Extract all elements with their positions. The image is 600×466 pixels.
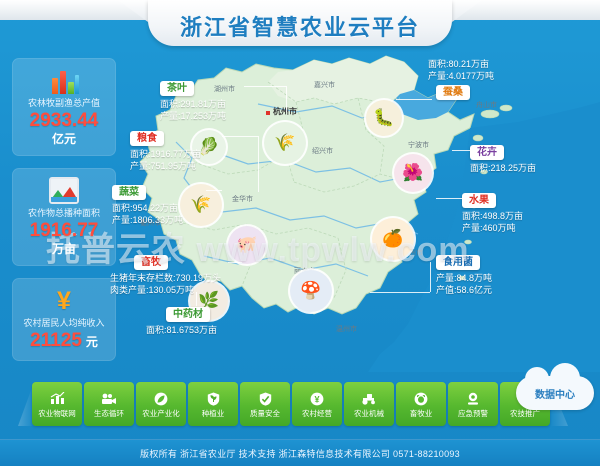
stat-value-rural-income: 21125 — [30, 330, 82, 352]
landscape-icon — [16, 176, 112, 204]
stat-card-rural-income[interactable]: ¥ 农村居民人均纯收入 21125 元 — [12, 278, 116, 361]
leader-mushroom — [370, 292, 430, 293]
tractor-icon — [361, 390, 377, 407]
callout-grain[interactable]: 粮食 面积:1916.77万亩 产量:751.95万吨 — [130, 128, 201, 172]
title-plate: 浙江省智慧农业云平台 — [148, 0, 452, 46]
stat-label-sown-area: 农作物总播种面积 — [16, 207, 112, 220]
nav-label-tech-extension: 农技推广 — [510, 409, 540, 418]
callout-fruit-line2: 产量:460万吨 — [462, 222, 523, 234]
city-label-shaoxing: 绍兴市 — [312, 146, 333, 156]
callout-tea-line2: 产量:17.253万吨 — [160, 110, 226, 122]
nav-label-machinery: 农业机械 — [354, 409, 384, 418]
capital-dot — [266, 111, 270, 115]
nav-item-machinery[interactable]: 农业机械 — [344, 382, 394, 426]
bar-chart-icon — [16, 66, 112, 94]
callout-silkworm-tag: 蚕桑 — [436, 85, 470, 100]
stat-unit-sown-area: 万亩 — [16, 242, 112, 257]
nav-item-rural-management[interactable]: ¥ 农村经营 — [292, 382, 342, 426]
page-title: 浙江省智慧农业云平台 — [180, 10, 420, 42]
nav-label-iot: 农业物联网 — [38, 409, 76, 418]
leader-herb-v — [196, 292, 197, 306]
stat-card-sown-area[interactable]: 农作物总播种面积 1916.77 万亩 — [12, 168, 116, 266]
callout-mushroom-tag: 食用菌 — [436, 255, 480, 270]
stat-label-rural-income: 农村居民人均纯收入 — [16, 317, 112, 330]
bubble-mushroom[interactable]: 🍄 — [290, 270, 332, 312]
footer-copyright: 版权所有 浙江省农业厅 技术支持 浙江森特信息技术有限公司 0571-88210… — [140, 447, 460, 460]
nav-label-eco-cycle: 生态循环 — [94, 409, 124, 418]
data-center-cloud-button[interactable]: 数据中心 — [516, 376, 594, 410]
bubble-fruit[interactable]: 🍊 — [372, 218, 414, 260]
callout-grain-tag: 粮食 — [130, 131, 164, 146]
leaf-icon — [154, 390, 168, 407]
nav-item-animal-husbandry[interactable]: 畜牧业 — [396, 382, 446, 426]
leader-grain-v — [258, 136, 259, 192]
yuan-icon: ¥ — [16, 286, 112, 314]
callout-flower-tag: 花卉 — [470, 145, 504, 160]
nav-item-industrialization[interactable]: 农业产业化 — [136, 382, 186, 426]
svg-text:¥: ¥ — [314, 394, 319, 404]
callout-livestock[interactable]: 畜牧 生猪年末存栏数:730.19万头 肉类产量:130.05万吨 — [110, 252, 221, 296]
cow-icon — [414, 390, 428, 407]
bottom-nav: 农业物联网 生态循环 农业产业化 种植业 质量安全 — [32, 382, 552, 426]
nav-item-eco-cycle[interactable]: 生态循环 — [84, 382, 134, 426]
nav-label-rural-management: 农村经营 — [302, 409, 332, 418]
callout-mushroom-line2: 产值:58.6亿元 — [436, 284, 492, 296]
callout-silkworm-line2: 产量:4.0177万吨 — [428, 70, 494, 82]
leader-flower — [452, 150, 470, 151]
nav-label-quality-safety: 质量安全 — [250, 409, 280, 418]
bubble-silkworm[interactable]: 🐛 — [366, 100, 402, 136]
chart-icon — [50, 390, 65, 407]
callout-mushroom-line1: 产量:84.8万吨 — [436, 272, 492, 284]
callout-tea-tag: 茶叶 — [160, 81, 194, 96]
check-shield-icon — [259, 390, 272, 407]
yuan-shield-icon: ¥ — [310, 390, 324, 407]
callout-fruit-line1: 面积:498.8万亩 — [462, 210, 523, 222]
callout-grain-line1: 面积:1916.77万亩 — [130, 148, 201, 160]
app-root: 浙江省智慧农业云平台 — [0, 0, 600, 466]
nav-label-emergency-alert: 应急预警 — [458, 409, 488, 418]
nav-item-iot[interactable]: 农业物联网 — [32, 382, 82, 426]
callout-silkworm-line1: 面积:80.21万亩 — [428, 58, 494, 70]
callout-vegetable-line1: 面积:954.22万亩 — [112, 202, 183, 214]
city-label-ningbo: 宁波市 — [408, 140, 429, 150]
callout-flower[interactable]: 花卉 面积:218.25万亩 — [470, 142, 536, 174]
city-label-wenzhou: 温州市 — [336, 324, 357, 334]
callout-vegetable-line2: 产量:1806.33万吨 — [112, 214, 183, 226]
stat-unit-rural-income: 元 — [86, 335, 98, 350]
leader-fruit — [436, 198, 462, 199]
city-label-jiaxing: 嘉兴市 — [314, 80, 335, 90]
leader-vegetable — [206, 190, 222, 191]
callout-tea-line1: 面积:291.81万亩 — [160, 98, 226, 110]
map-north-plain — [268, 56, 418, 104]
stat-value-sown-area: 1916.77 — [16, 220, 112, 242]
leader-livestock — [228, 262, 242, 263]
stat-unit-total-output: 亿元 — [16, 132, 112, 147]
callout-livestock-tag: 畜牧 — [134, 255, 168, 270]
callout-livestock-line2: 肉类产量:130.05万吨 — [110, 284, 221, 296]
leader-silkworm — [396, 99, 432, 100]
stat-card-total-output[interactable]: 农林牧副渔总产值 2933.44 亿元 — [12, 58, 116, 156]
callout-silkworm[interactable]: 面积:80.21万亩 产量:4.0177万吨 蚕桑 — [428, 58, 494, 100]
bubble-flower[interactable]: 🌺 — [394, 154, 432, 192]
callout-herb-tag: 中药材 — [166, 307, 210, 322]
stats-panel: 农林牧副渔总产值 2933.44 亿元 农作物总播种面积 1916.77 万亩 … — [12, 58, 108, 373]
stat-label-total-output: 农林牧副渔总产值 — [16, 97, 112, 110]
callout-fruit[interactable]: 水果 面积:498.8万亩 产量:460万吨 — [462, 190, 523, 234]
footer-bar: 版权所有 浙江省农业厅 技术支持 浙江森特信息技术有限公司 0571-88210… — [0, 439, 600, 466]
bubble-tea[interactable]: 🌾 — [264, 122, 306, 164]
bubble-livestock[interactable]: 🐖 — [228, 226, 266, 264]
callout-herb[interactable]: 中药材 面积:81.6753万亩 — [146, 304, 217, 336]
city-label-hangzhou: 杭州市 — [273, 106, 297, 117]
leader-tea-v — [286, 86, 287, 112]
nav-label-animal-husbandry: 畜牧业 — [410, 409, 433, 418]
leader-mushroom-v — [430, 262, 431, 292]
alarm-icon — [466, 390, 480, 407]
stat-value-total-output: 2933.44 — [16, 110, 112, 132]
callout-fruit-tag: 水果 — [462, 193, 496, 208]
leader-grain — [222, 136, 258, 137]
callout-grain-line2: 产量:751.95万吨 — [130, 160, 201, 172]
city-label-zhoushan: 舟山市 — [476, 100, 497, 110]
leader-tea — [244, 86, 286, 87]
callout-flower-line1: 面积:218.25万亩 — [470, 162, 536, 174]
callout-herb-line1: 面积:81.6753万亩 — [146, 324, 217, 336]
callout-livestock-line1: 生猪年末存栏数:730.19万头 — [110, 272, 221, 284]
nav-label-planting: 种植业 — [202, 409, 225, 418]
sprout-shield-icon — [207, 390, 220, 407]
data-center-label: 数据中心 — [535, 386, 575, 401]
callout-vegetable[interactable]: 蔬菜 面积:954.22万亩 产量:1806.33万吨 — [112, 182, 183, 226]
nav-item-planting[interactable]: 种植业 — [188, 382, 238, 426]
callout-mushroom[interactable]: 食用菌 产量:84.8万吨 产值:58.6亿元 — [436, 252, 492, 296]
camera-icon — [101, 390, 117, 407]
city-label-jinhua: 金华市 — [232, 194, 253, 204]
callout-tea[interactable]: 茶叶 面积:291.81万亩 产量:17.253万吨 — [160, 78, 226, 122]
callout-vegetable-tag: 蔬菜 — [112, 185, 146, 200]
nav-item-emergency-alert[interactable]: 应急预警 — [448, 382, 498, 426]
nav-label-industrialization: 农业产业化 — [142, 409, 180, 418]
nav-item-quality-safety[interactable]: 质量安全 — [240, 382, 290, 426]
